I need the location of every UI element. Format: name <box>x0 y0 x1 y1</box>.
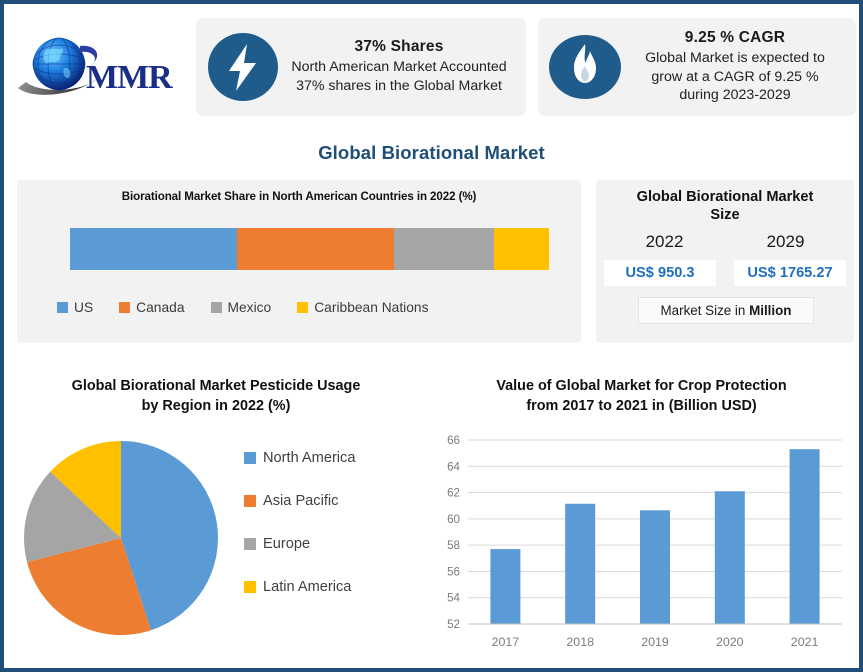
legend-label: North America <box>263 450 355 466</box>
pesticide-usage-title-line1: Global Biorational Market Pesticide Usag… <box>72 378 361 394</box>
y-axis-tick-label: 62 <box>447 487 460 500</box>
bar-2018 <box>565 504 595 624</box>
legend-label: Caribbean Nations <box>314 300 428 315</box>
y-axis-tick-label: 54 <box>447 592 460 605</box>
x-axis-tick-label: 2018 <box>566 635 594 649</box>
x-axis-tick-label: 2019 <box>641 635 669 649</box>
pie-chart <box>21 438 221 638</box>
market-size-value-2022: US$ 950.3 <box>604 260 716 286</box>
x-axis-tick-label: 2021 <box>791 635 819 649</box>
x-axis-tick-label: 2020 <box>716 635 744 649</box>
y-axis-tick-label: 60 <box>447 513 460 526</box>
mmr-logo-icon: MMR <box>14 34 190 100</box>
legend-label: Europe <box>263 536 310 552</box>
pie-legend-item-latin-america: Latin America <box>244 565 414 608</box>
legend-label: Asia Pacific <box>263 493 338 509</box>
stacked-bar-segment-caribbean-nations <box>494 228 549 270</box>
legend-label: US <box>74 300 93 315</box>
pie-legend-item-asia-pacific: Asia Pacific <box>244 479 414 522</box>
market-size-panel: Global Biorational Market Size 2022 2029… <box>596 180 854 343</box>
pie-legend-item-europe: Europe <box>244 522 414 565</box>
stat-card-cagr: 9.25 % CAGR Global Market is expected to… <box>538 18 856 116</box>
stat-card-cagr-line1: Global Market is expected to <box>624 49 846 68</box>
stacked-legend-item-mexico: Mexico <box>211 300 272 315</box>
crop-protection-title-line1: Value of Global Market for Crop Protecti… <box>496 378 786 394</box>
flame-icon <box>548 30 622 104</box>
market-size-values: US$ 950.3 US$ 1765.27 <box>604 260 846 286</box>
stat-card-shares-line1: North American Market Accounted <box>282 58 516 77</box>
north-america-share-title: Biorational Market Share in North Americ… <box>17 190 581 203</box>
stacked-legend-item-canada: Canada <box>119 300 184 315</box>
market-size-title-line1: Global Biorational Market <box>637 189 814 205</box>
legend-swatch-icon <box>244 538 256 550</box>
pesticide-usage-title-line2: by Region in 2022 (%) <box>142 398 291 414</box>
legend-swatch-icon <box>297 302 308 313</box>
svg-text:MMR: MMR <box>86 59 173 96</box>
stat-card-cagr-line2: grow at a CAGR of 9.25 % <box>624 68 846 87</box>
top-stats-row: MMR 37% Shares North American Market Acc… <box>4 4 859 129</box>
stacked-bar-legend: USCanadaMexicoCaribbean Nations <box>57 300 557 315</box>
mmr-logo: MMR <box>4 4 194 129</box>
legend-swatch-icon <box>244 581 256 593</box>
legend-swatch-icon <box>211 302 222 313</box>
crop-protection-panel: Value of Global Market for Crop Protecti… <box>424 376 859 664</box>
market-size-year-2029: 2029 <box>725 232 846 252</box>
market-size-unit-note: Market Size in Million <box>638 297 814 324</box>
y-axis-tick-label: 66 <box>447 434 460 447</box>
crop-protection-bar-svg: 525456586062646620172018201920202021 <box>424 432 859 662</box>
infographic-frame: MMR 37% Shares North American Market Acc… <box>0 0 863 672</box>
market-size-value-2029: US$ 1765.27 <box>734 260 846 286</box>
pesticide-usage-title: Global Biorational Market Pesticide Usag… <box>16 376 416 416</box>
legend-label: Canada <box>136 300 184 315</box>
north-america-share-panel: Biorational Market Share in North Americ… <box>17 180 581 343</box>
y-axis-tick-label: 58 <box>447 539 460 552</box>
stat-card-cagr-heading: 9.25 % CAGR <box>624 28 846 49</box>
market-size-title-line2: Size <box>710 207 739 223</box>
legend-swatch-icon <box>244 495 256 507</box>
stat-card-shares-line2: 37% shares in the Global Market <box>282 77 516 96</box>
stacked-bar-segment-canada <box>237 228 394 270</box>
crop-protection-bar-chart: 525456586062646620172018201920202021 <box>424 432 859 662</box>
legend-swatch-icon <box>119 302 130 313</box>
market-size-unit-value: Million <box>749 303 791 318</box>
stacked-bar-segment-mexico <box>394 228 494 270</box>
legend-swatch-icon <box>244 452 256 464</box>
lightning-bolt-icon <box>206 30 280 104</box>
legend-label: Mexico <box>228 300 272 315</box>
pie-chart-legend: North AmericaAsia PacificEuropeLatin Ame… <box>244 436 414 608</box>
stat-card-cagr-text: 9.25 % CAGR Global Market is expected to… <box>622 28 846 105</box>
pie-chart-svg <box>21 438 221 638</box>
stat-card-shares: 37% Shares North American Market Account… <box>196 18 526 116</box>
x-axis-tick-label: 2017 <box>492 635 520 649</box>
market-size-unit-prefix: Market Size in <box>661 303 750 318</box>
stacked-bar-chart <box>70 228 549 270</box>
pie-legend-item-north-america: North America <box>244 436 414 479</box>
bar-2021 <box>790 449 820 624</box>
stacked-legend-item-caribbean-nations: Caribbean Nations <box>297 300 428 315</box>
stacked-legend-item-us: US <box>57 300 93 315</box>
crop-protection-title-line2: from 2017 to 2021 in (Billion USD) <box>526 398 756 414</box>
stat-card-cagr-line3: during 2023-2029 <box>624 86 846 105</box>
market-size-year-2022: 2022 <box>604 232 725 252</box>
market-size-title: Global Biorational Market Size <box>602 189 848 224</box>
legend-label: Latin America <box>263 579 351 595</box>
pesticide-usage-panel: Global Biorational Market Pesticide Usag… <box>16 376 416 664</box>
page-title: Global Biorational Market <box>4 142 859 164</box>
y-axis-tick-label: 56 <box>447 565 460 578</box>
stat-card-shares-heading: 37% Shares <box>282 37 516 58</box>
bar-2019 <box>640 510 670 624</box>
stacked-bar-segment-us <box>70 228 237 270</box>
legend-swatch-icon <box>57 302 68 313</box>
bar-2017 <box>490 549 520 624</box>
y-axis-tick-label: 64 <box>447 460 460 473</box>
stat-card-shares-text: 37% Shares North American Market Account… <box>280 37 516 95</box>
market-size-years: 2022 2029 <box>604 232 846 252</box>
bar-2020 <box>715 491 745 624</box>
y-axis-tick-label: 52 <box>447 618 460 631</box>
crop-protection-title: Value of Global Market for Crop Protecti… <box>424 376 859 416</box>
